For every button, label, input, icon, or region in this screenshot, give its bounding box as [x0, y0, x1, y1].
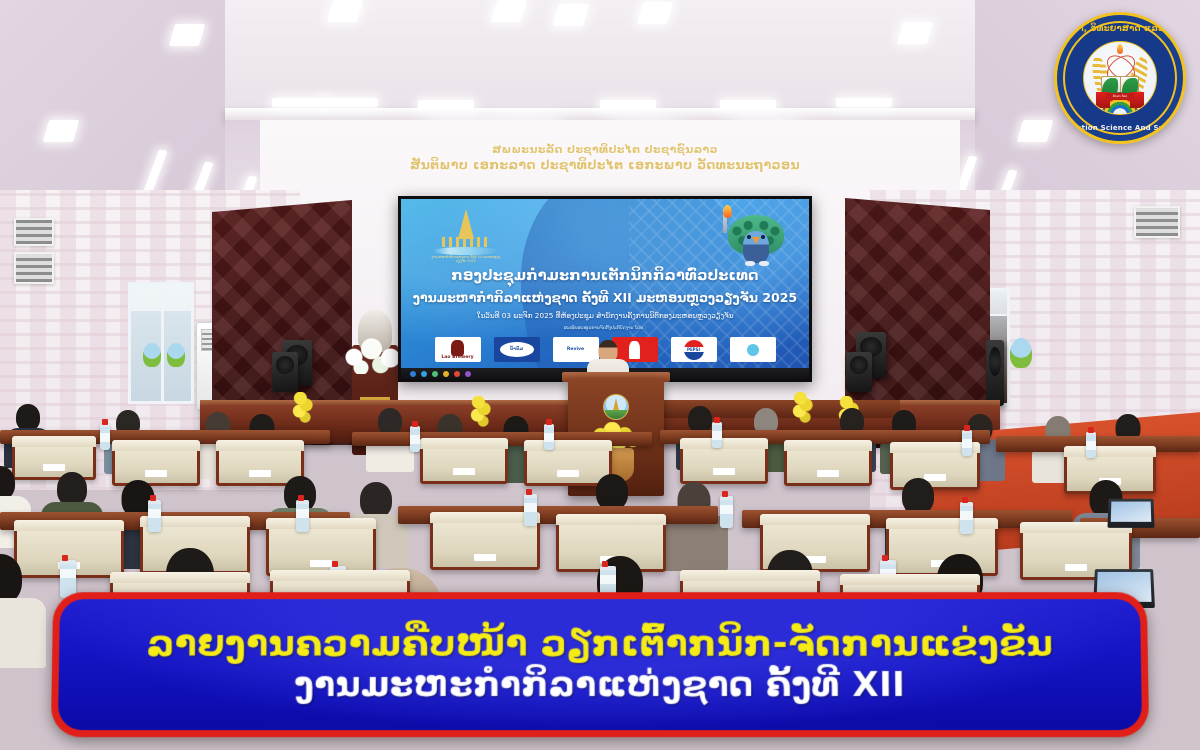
pa-speaker-left2	[272, 352, 298, 392]
water-bottle[interactable]	[524, 494, 537, 526]
seat-number-tag	[713, 468, 735, 475]
vitamilk-oval-icon: ນ້ຳນົມ	[500, 342, 534, 357]
stupa-base	[442, 237, 490, 247]
av-rack	[986, 340, 1004, 406]
seat-number-tag	[249, 470, 271, 477]
ceiling-light	[169, 24, 205, 46]
torch-icon	[723, 209, 727, 233]
flame-icon	[723, 205, 732, 218]
headline-line2: ງານມະຫະກຳກິລາແຫ່ງຊາດ ຄັ້ງທີ XII	[294, 666, 905, 704]
stupa-caption: ງານມະຫາກຳກິລາແຫ່ງຊາດ ຄັ້ງທີ XII ນະຄອນຫຼວ…	[431, 255, 501, 264]
ceiling-light	[836, 98, 892, 107]
audience-seat[interactable]	[784, 440, 872, 486]
attendee-head	[16, 404, 40, 431]
water-bottle[interactable]	[148, 500, 161, 532]
logo-inner-ribbon-text: ສຶກສາ ກິລາ	[1106, 93, 1134, 100]
that-luang-stupa-logo-icon: ງານມະຫາກຳກິລາແຫ່ງຊາດ ຄັ້ງທີ XII ນະຄອນຫຼວ…	[427, 207, 505, 265]
sponsor-label: Revive	[567, 347, 584, 352]
door-decal	[143, 343, 161, 367]
seat-number-tag	[43, 464, 65, 471]
water-bottle[interactable]	[962, 430, 972, 456]
stupa-wave	[433, 247, 499, 255]
ceiling-light	[322, 98, 378, 107]
ceiling-light	[897, 22, 933, 44]
ceiling-light	[491, 0, 527, 22]
lao-national-emblem-icon	[603, 394, 629, 420]
wall-vent-grille	[14, 218, 54, 246]
peacock-eye-right	[761, 235, 765, 239]
sponsor-logo-lao-brewery: Lao Brewery	[435, 337, 481, 362]
conference-hall-photo: ສພພະນະລັດ ປະຊາທິປະໄຕ ປະຊາຊົນລາວ ສັນຕິພາບ…	[0, 0, 1200, 750]
water-bottle[interactable]	[1086, 432, 1096, 458]
audience-seat[interactable]	[680, 438, 768, 484]
right-door-decal	[1010, 338, 1032, 368]
ceiling-light	[720, 100, 776, 109]
lao-brewery-mark-icon	[451, 340, 464, 356]
audience-seat[interactable]	[266, 518, 376, 576]
headline-banner: ລາຍງານຄວາມຄືບໜ້າ ວຽກເຕົ້າກນິກ-ຈັດການແຂ່ງ…	[51, 592, 1149, 737]
ceiling-light	[553, 4, 589, 26]
ceiling-light	[43, 120, 79, 142]
water-bottle[interactable]	[100, 424, 110, 450]
sponsor-logo-beauty	[730, 337, 776, 362]
left-doorway[interactable]	[128, 282, 194, 404]
emblem-ground	[604, 410, 628, 419]
ceiling-light	[327, 0, 363, 22]
headline-line1: ລາຍງານຄວາມຄືບໜ້າ ວຽກເຕົ້າກນິກ-ຈັດການແຂ່ງ…	[146, 625, 1053, 664]
taskbar-icon[interactable]	[465, 371, 471, 377]
taskbar-icon[interactable]	[432, 371, 438, 377]
screen-sponsor-caption: ສະໜັບສະໜູນການຈັດຕັ້ງປະຕິບັດງານ ໂດຍ :	[401, 326, 809, 331]
stage-flowers	[468, 396, 494, 430]
sponsor-label: PEPSI	[687, 347, 700, 352]
attendee-body	[0, 598, 46, 668]
seat-number-tag	[474, 554, 496, 561]
screen-title-line1: ກອງປະຊຸມກຳມະການເຕັກນິກກິລາທົ່ວປະເທດ	[401, 268, 809, 284]
attendee-head	[902, 478, 934, 514]
water-bottle[interactable]	[410, 426, 420, 452]
seat-number-tag	[453, 468, 475, 475]
water-bottle[interactable]	[296, 500, 309, 532]
sponsor-label: Lao Brewery	[441, 355, 473, 360]
taskbar-icon[interactable]	[454, 371, 460, 377]
water-bottle[interactable]	[544, 424, 554, 450]
taskbar-icon[interactable]	[443, 371, 449, 377]
taskbar-icon[interactable]	[421, 371, 427, 377]
peacock-foot-left	[745, 261, 755, 266]
beauty-mark-icon	[747, 344, 759, 356]
pa-speaker-right2	[846, 352, 872, 392]
wall-vent-grille	[1134, 206, 1180, 238]
sponsor-logo-pepsi: PEPSI	[671, 337, 717, 362]
water-bottle[interactable]	[960, 502, 973, 534]
seat-number-tag	[1065, 564, 1087, 571]
torch-flame-icon	[1117, 44, 1123, 54]
logo-inner-disc: ສຶກສາ ກິລາ	[1083, 41, 1157, 115]
wall-vent-grille	[14, 252, 54, 284]
seat-number-tag	[557, 470, 579, 477]
attendee-head	[378, 408, 402, 435]
walking-figure-icon	[629, 341, 640, 359]
water-bottle[interactable]	[720, 496, 733, 528]
ceiling-light	[272, 98, 328, 107]
water-bottle[interactable]	[712, 422, 722, 448]
stupa-spire	[458, 209, 474, 239]
peacock-eye-left	[747, 235, 751, 239]
door-decal	[167, 343, 185, 367]
seat-number-tag	[817, 470, 839, 477]
logo-english-text: Education Science And Sports News	[1057, 124, 1183, 132]
education-science-sports-news-logo[interactable]: ສຶກສາ, ວິທະຍາສາດ ແລະ ກິລາ Education Scie…	[1054, 12, 1186, 144]
seat-number-tag	[924, 474, 946, 481]
audience-seat[interactable]	[112, 440, 200, 486]
ceiling-light	[600, 100, 656, 109]
attendee-head	[57, 472, 87, 506]
ceiling-light	[637, 2, 673, 24]
stage-flowers	[790, 392, 816, 426]
attendee-head	[596, 474, 628, 510]
door-divider	[161, 285, 164, 401]
pepsi-globe-icon: PEPSI	[684, 340, 704, 360]
screen-subtitle: ໃນວັນທີ 03 ພະຈິກ 2025 ທີ່ຫ້ອງປະຊຸມ ສຳນັກ…	[401, 311, 809, 320]
logo-lao-text: ສຶກສາ, ວິທະຍາສາດ ແລະ ກິລາ	[1057, 24, 1183, 34]
attendee-head	[360, 482, 392, 518]
ceiling-light	[418, 100, 474, 109]
attendee-head	[688, 406, 712, 433]
peacock-foot-right	[759, 261, 769, 266]
peacock-beak	[752, 237, 760, 244]
headline-banner-inner: ລາຍງານຄວາມຄືບໜ້າ ວຽກເຕົ້າກນິກ-ຈັດການແຂ່ງ…	[58, 599, 1142, 730]
laptop[interactable]	[1107, 499, 1154, 528]
water-bottle[interactable]	[60, 560, 76, 598]
ceiling-light	[1017, 120, 1053, 142]
taskbar-icon[interactable]	[410, 371, 416, 377]
peacock-mascot-icon	[721, 205, 791, 267]
seat-number-tag	[145, 470, 167, 477]
sponsor-logo-vitamilk: ນ້ຳນົມ	[494, 337, 540, 362]
seat-number-tag	[310, 560, 332, 567]
audience-seat[interactable]	[12, 436, 96, 480]
screen-title-line2: ງານມະຫາກຳກິລາແຫ່ງຊາດ ຄັ້ງທີ XII ມະຫອນຫຼວ…	[401, 290, 809, 305]
sponsor-label: ນ້ຳນົມ	[510, 347, 523, 352]
stage-flowers	[290, 392, 316, 426]
audience-seat[interactable]	[420, 438, 508, 484]
